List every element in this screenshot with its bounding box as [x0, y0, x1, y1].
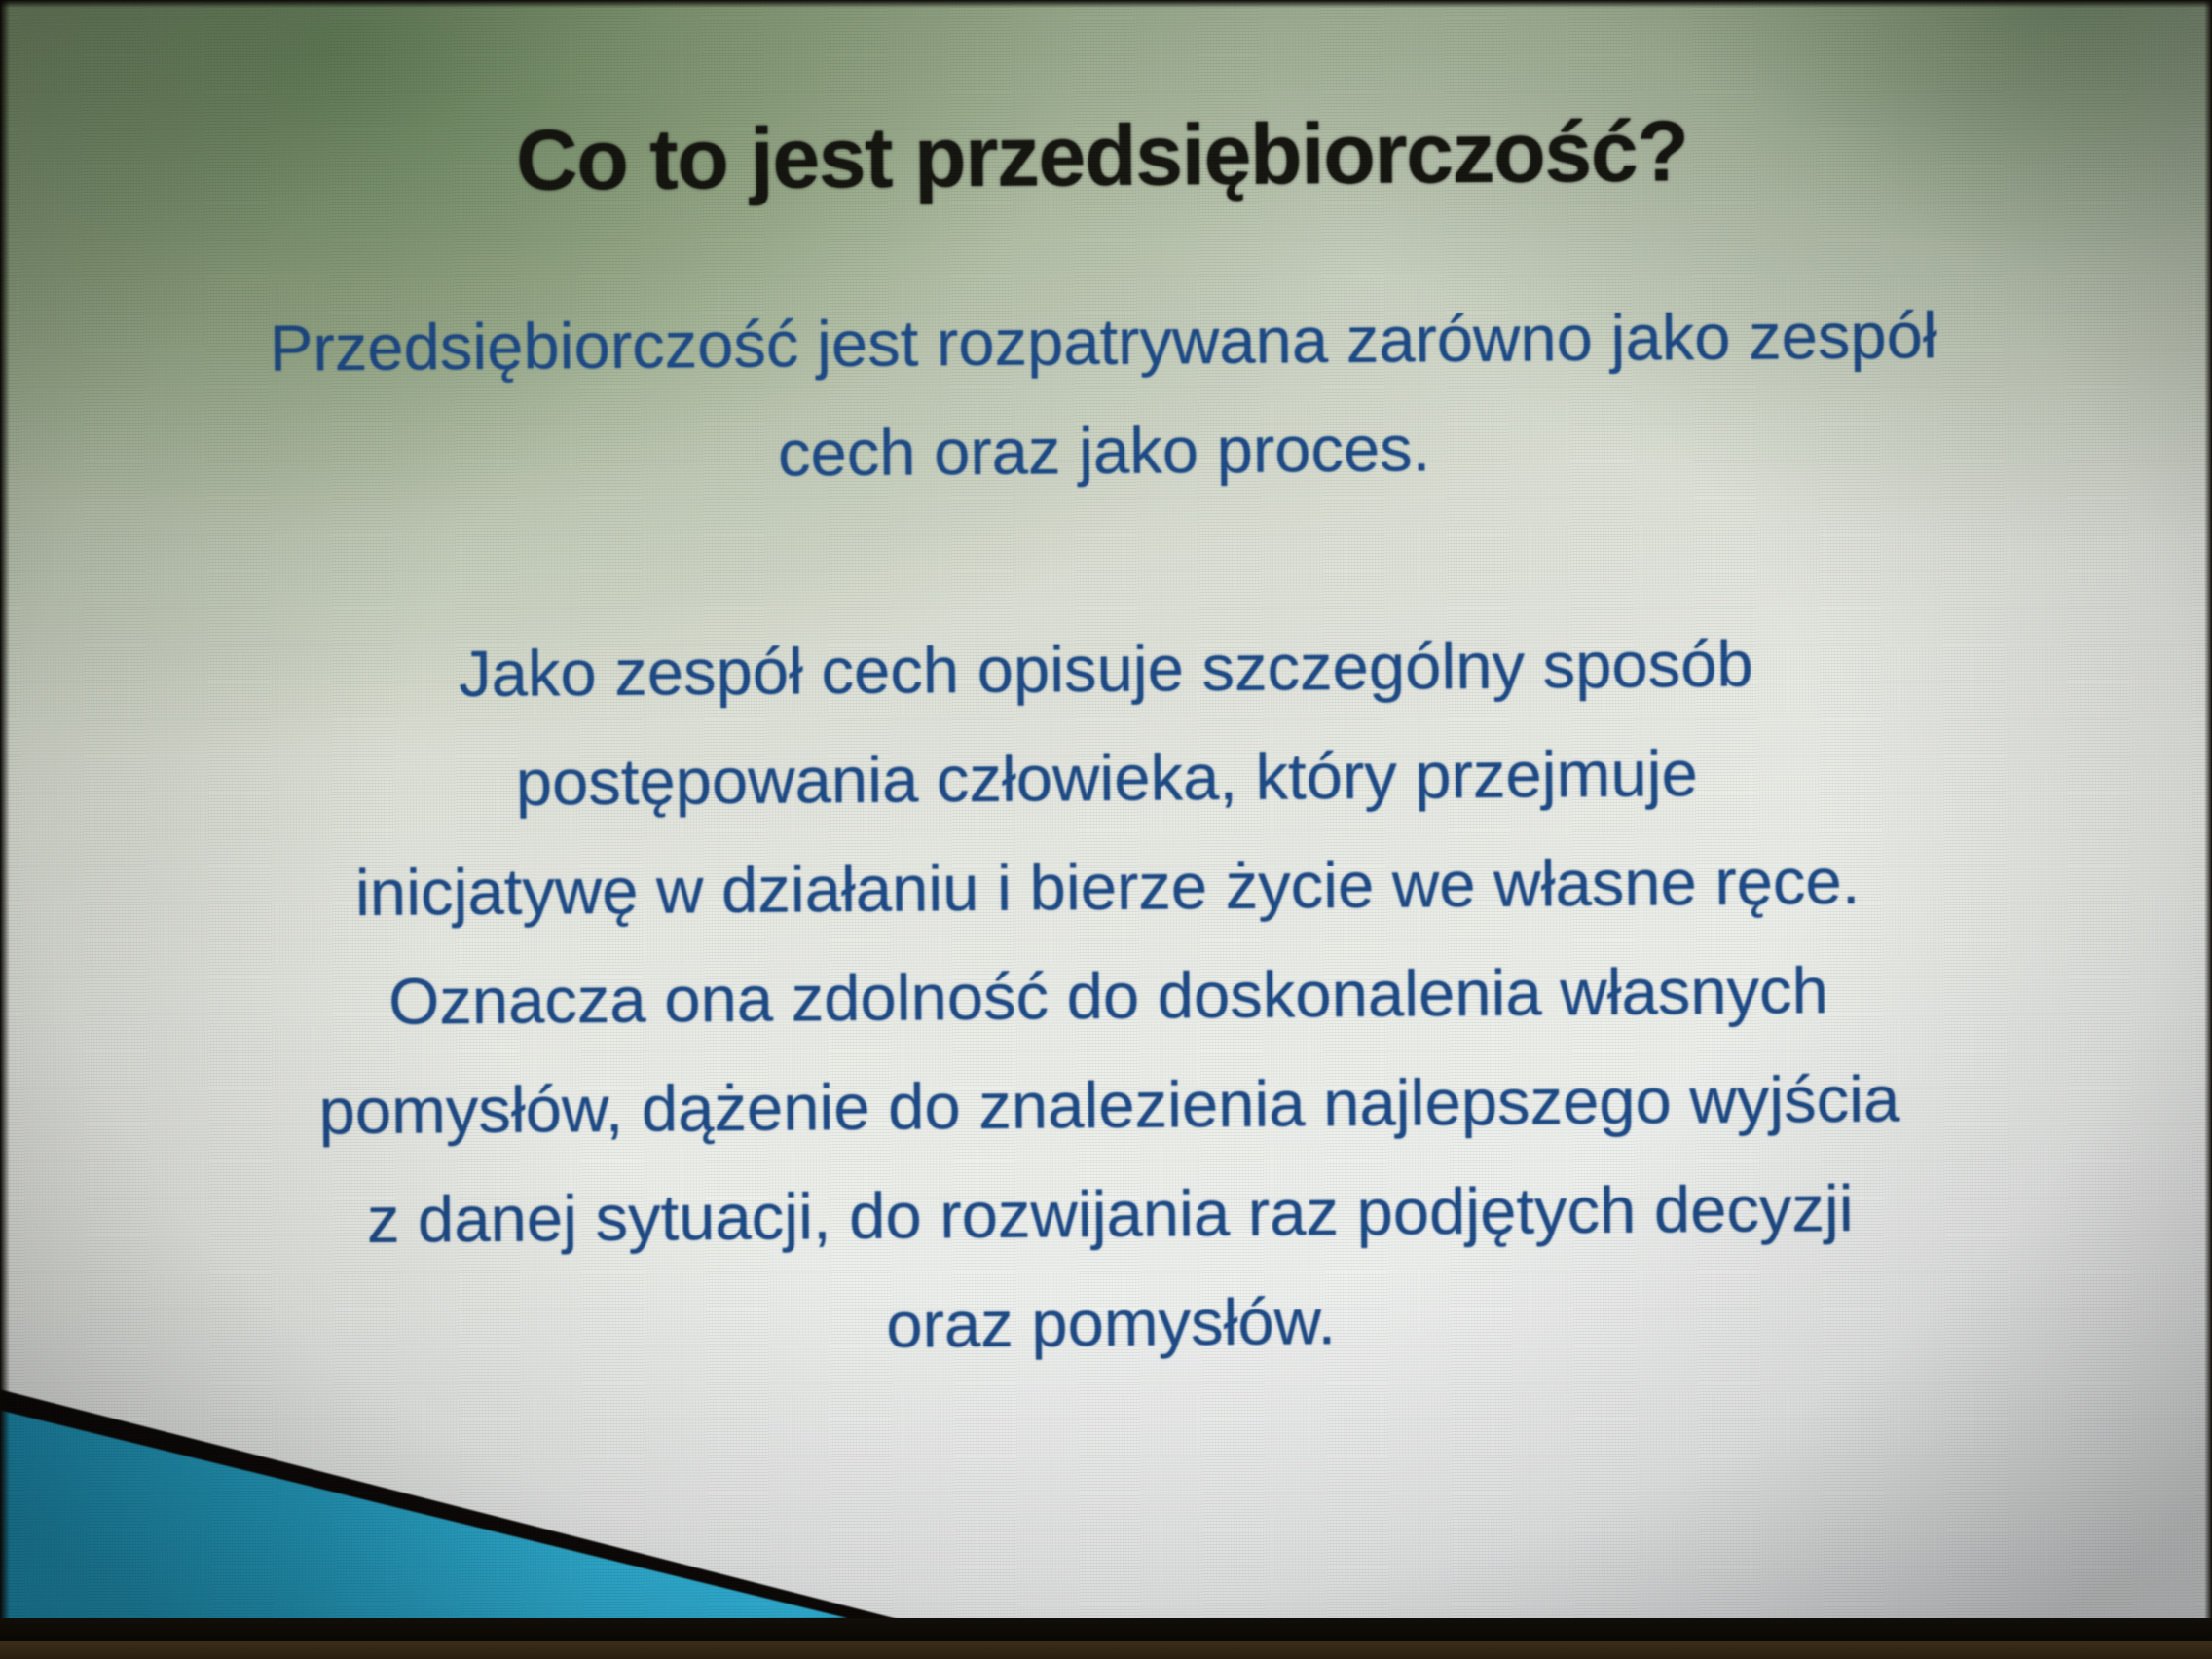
body-line: pomysłów, dążenie do znalezienia najleps… [318, 1063, 1899, 1149]
slide-body-text: Przedsiębiorczość jest rozpatrywana zaró… [68, 280, 2147, 1387]
body-line: Przedsiębiorczość jest rozpatrywana zaró… [269, 299, 1937, 385]
body-line: Jako zespół cech opisuje szczególny spos… [459, 628, 1753, 711]
body-line: z danej sytuacji, do rozwijania raz podj… [367, 1172, 1854, 1257]
slide-content: Co to jest przedsiębiorczość? Przedsiębi… [0, 0, 2212, 1642]
body-line: postępowania człowieka, który przejmuje [515, 737, 1698, 820]
slide-title: Co to jest przedsiębiorczość? [0, 97, 2212, 214]
paragraph-intro: Przedsiębiorczość jest rozpatrywana zaró… [68, 280, 2140, 515]
paragraph-definition: Jako zespół cech opisuje szczególny spos… [70, 608, 2146, 1387]
paragraph-spacer [70, 498, 2141, 624]
body-line: Oznacza ona zdolność do doskonalenia wła… [388, 954, 1828, 1039]
presentation-slide: Co to jest przedsiębiorczość? Przedsiębi… [0, 0, 2212, 1642]
desk-surface [0, 1641, 2212, 1659]
body-line: cech oraz jako proces. [778, 412, 1431, 490]
body-line: inicjatywę w działaniu i bierze życie we… [355, 845, 1861, 930]
photographed-screen-frame: Co to jest przedsiębiorczość? Przedsiębi… [0, 0, 2212, 1659]
white-wedge-decoration [0, 1499, 137, 1642]
body-line: oraz pomysłów. [886, 1285, 1336, 1362]
